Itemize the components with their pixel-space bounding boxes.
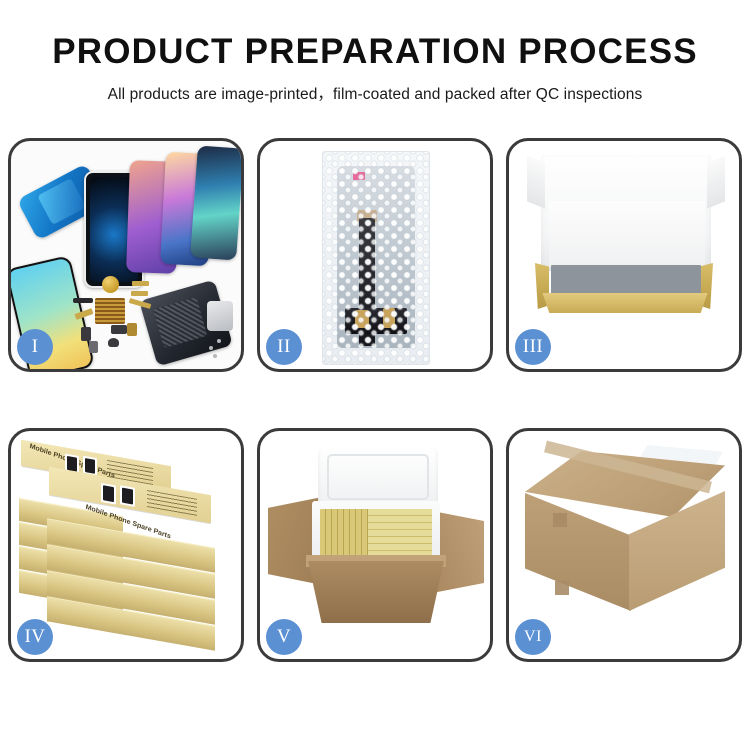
box-stack: Mobile Phone Spare Parts Mobile Phone Sp… bbox=[17, 447, 235, 647]
lcd-gold-contact-left bbox=[355, 310, 369, 328]
white-foam-sheet bbox=[549, 201, 705, 267]
packed-yellow-boxes-right bbox=[368, 509, 432, 557]
spare-part-coin-motor bbox=[102, 276, 119, 293]
step-badge-2: II bbox=[266, 329, 302, 365]
spare-part-screw-2 bbox=[217, 339, 221, 343]
spare-part-flex-cable-2 bbox=[131, 291, 148, 296]
carton-tape-patch-top bbox=[553, 513, 567, 527]
lcd-flex-cable bbox=[359, 218, 375, 346]
step-badge-6: VI bbox=[515, 619, 551, 655]
carton-front-face bbox=[308, 561, 444, 623]
step-badge-1: I bbox=[17, 329, 53, 365]
step-panel-2: II bbox=[257, 138, 493, 372]
spare-part-screw-3 bbox=[213, 354, 217, 358]
box-window-right-1 bbox=[101, 483, 116, 505]
process-steps-grid: I II bbox=[8, 138, 742, 662]
yellow-box-front bbox=[539, 293, 711, 313]
wrapped-lcd-screen bbox=[337, 166, 415, 348]
step-panel-1: I bbox=[8, 138, 244, 372]
spare-part-flex-cable-1 bbox=[132, 281, 149, 286]
product-preparation-process-page: PRODUCT PREPARATION PROCESS All products… bbox=[0, 0, 750, 750]
pink-label-tab bbox=[353, 172, 365, 180]
spare-part-camera bbox=[108, 338, 119, 347]
step-panel-5: V bbox=[257, 428, 493, 662]
spare-part-screw-1 bbox=[209, 346, 213, 350]
step-badge-5: V bbox=[266, 619, 302, 655]
spare-part-battery-tab bbox=[89, 341, 98, 353]
carton-tape-patch-bottom bbox=[555, 581, 569, 595]
step-badge-4: IV bbox=[17, 619, 53, 655]
bubble-wrap-bag bbox=[322, 151, 430, 365]
spare-part-speaker bbox=[73, 298, 93, 303]
page-subtitle: All products are image-printed，film-coat… bbox=[0, 82, 750, 104]
step-panel-3: III bbox=[506, 138, 742, 372]
box-window-right-2 bbox=[120, 485, 135, 507]
spare-part-tool bbox=[207, 301, 233, 331]
page-title: PRODUCT PREPARATION PROCESS bbox=[0, 34, 750, 71]
spare-part-chip-2 bbox=[111, 325, 127, 334]
teal-phone-screen bbox=[190, 146, 241, 261]
page-header: PRODUCT PREPARATION PROCESS All products… bbox=[0, 0, 750, 104]
spare-part-gold-block bbox=[127, 323, 137, 336]
step-panel-6: VI bbox=[506, 428, 742, 662]
lcd-gold-contact-right bbox=[383, 308, 395, 328]
carton-left-face bbox=[525, 493, 631, 611]
lcd-connector bbox=[357, 210, 377, 222]
spare-part-chip-1 bbox=[81, 327, 91, 341]
lcd-bottom-board bbox=[345, 308, 407, 334]
spare-part-ic-grid bbox=[95, 298, 125, 324]
grey-bubble-wrap-fill bbox=[551, 265, 701, 295]
foam-box-lid bbox=[318, 447, 438, 509]
step-badge-3: III bbox=[515, 329, 551, 365]
step-panel-4: Mobile Phone Spare Parts Mobile Phone Sp… bbox=[8, 428, 244, 662]
